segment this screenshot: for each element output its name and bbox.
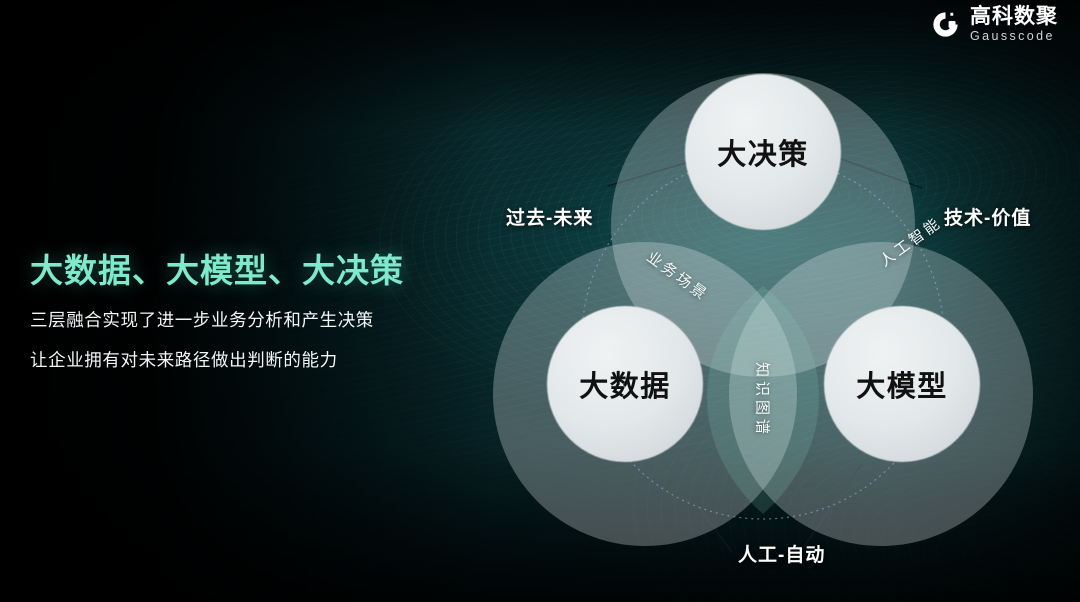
- overlap-label-knowledge-graph: 知识图谱: [753, 362, 774, 438]
- subtitle-line-2: 让企业拥有对未来路径做出判断的能力: [30, 351, 460, 370]
- page-title: 大数据、大模型、大决策: [30, 252, 460, 291]
- venn-graphics: [470, 18, 1080, 602]
- slide-canvas: 高科数聚 Gausscode 大数据、大模型、大决策 三层融合实现了进一步业务分…: [0, 0, 1080, 602]
- circle-label-bigdata: 大数据: [579, 363, 671, 405]
- axis-label-tech-value: 技术-价值: [944, 203, 1031, 230]
- copy-block: 大数据、大模型、大决策 三层融合实现了进一步业务分析和产生决策 让企业拥有对未来…: [30, 252, 460, 370]
- axis-label-manual-auto: 人工-自动: [738, 540, 825, 567]
- circle-label-bigmodel: 大模型: [856, 363, 948, 405]
- axis-label-past-future: 过去-未来: [506, 203, 593, 230]
- venn-diagram: 过去-未来 技术-价值 人工-自动 大决策 大数据 大模型 业务场景 人工智能 …: [470, 18, 1080, 602]
- circle-label-decision: 大决策: [717, 131, 809, 173]
- subtitle-line-1: 三层融合实现了进一步业务分析和产生决策: [30, 311, 460, 330]
